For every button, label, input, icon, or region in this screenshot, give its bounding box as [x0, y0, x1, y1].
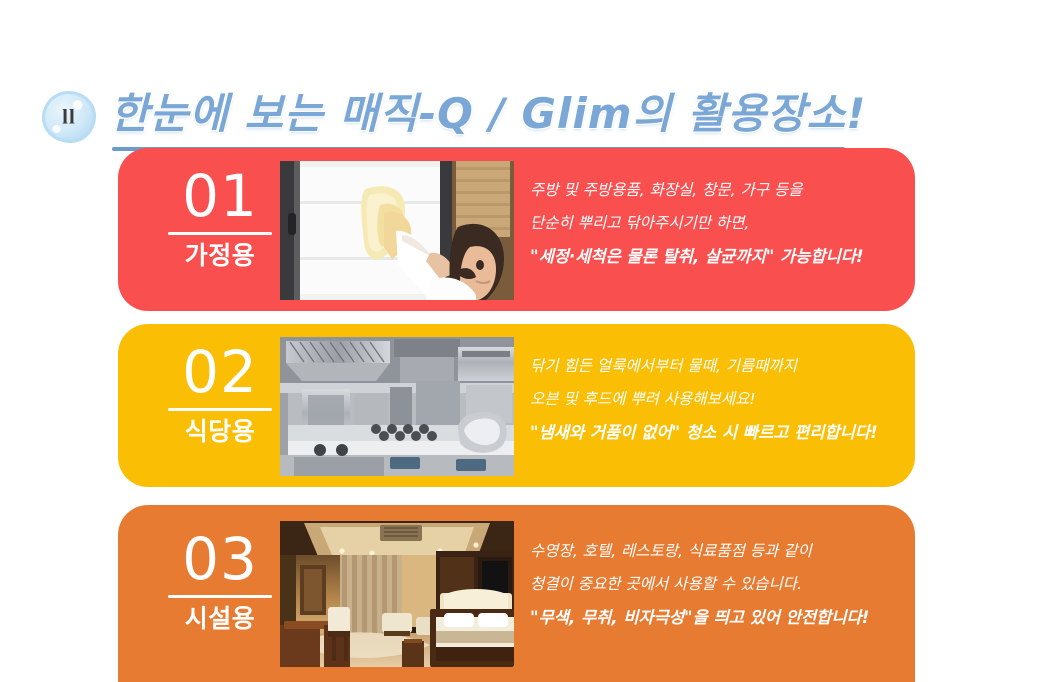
card-number-column: 01 가정용 — [156, 166, 284, 269]
card-text-line: 닦기 힘든 얼룩에서부터 물때, 기름때까지 — [530, 350, 895, 383]
card-text-line-emphasis: "무색, 무취, 비자극성"을 띄고 있어 안전합니다! — [530, 601, 895, 634]
card-text-line-emphasis: "세정·세척은 물론 탈취, 살균까지" 가능합니다! — [530, 240, 895, 273]
card-number: 03 — [156, 529, 284, 590]
card-body-text: 닦기 힘든 얼룩에서부터 물때, 기름때까지 오븐 및 후드에 뿌려 사용해보세… — [530, 350, 895, 449]
woman-cleaning-window-photo — [280, 161, 514, 300]
card-body-text: 주방 및 주방용품, 화장실, 창문, 가구 등을 단순히 뿌리고 닦아주시기만… — [530, 174, 895, 273]
card-text-line: 청결이 중요한 곳에서 사용할 수 있습니다. — [530, 568, 895, 601]
card-number-column: 02 식당용 — [156, 342, 284, 445]
card-number-rule — [168, 595, 272, 598]
card-text-line: 단순히 뿌리고 닦아주시기만 하면, — [530, 207, 895, 240]
usage-card-03: 03 시설용 — [118, 505, 915, 682]
luxury-hotel-room-photo — [280, 521, 514, 667]
card-body-text: 수영장, 호텔, 레스토랑, 식료품점 등과 같이 청결이 중요한 곳에서 사용… — [530, 535, 895, 634]
card-number-rule — [168, 232, 272, 235]
card-label: 식당용 — [156, 418, 284, 446]
card-text-line: 오븐 및 후드에 뿌려 사용해보세요! — [530, 383, 895, 416]
card-label: 가정용 — [156, 242, 284, 270]
card-label: 시설용 — [156, 605, 284, 633]
card-text-line-emphasis: "냄새와 거품이 없어" 청소 시 빠르고 편리합니다! — [530, 416, 895, 449]
usage-card-02: 02 식당용 — [118, 324, 915, 487]
slide-title-row: ll 한눈에 보는 매직-Q / Glim의 활용장소! — [0, 40, 1040, 110]
card-number: 02 — [156, 342, 284, 403]
card-number: 01 — [156, 166, 284, 227]
usage-card-01: 01 가정용 — [118, 148, 915, 311]
bubble-icon-glyph: ll — [45, 107, 93, 128]
card-number-rule — [168, 408, 272, 411]
card-number-column: 03 시설용 — [156, 529, 284, 632]
card-text-line: 주방 및 주방용품, 화장실, 창문, 가구 등을 — [530, 174, 895, 207]
bubble-icon: ll — [42, 91, 96, 143]
card-text-line: 수영장, 호텔, 레스토랑, 식료품점 등과 같이 — [530, 535, 895, 568]
page-title: 한눈에 보는 매직-Q / Glim의 활용장소! — [110, 80, 866, 141]
commercial-kitchen-photo — [280, 337, 514, 476]
